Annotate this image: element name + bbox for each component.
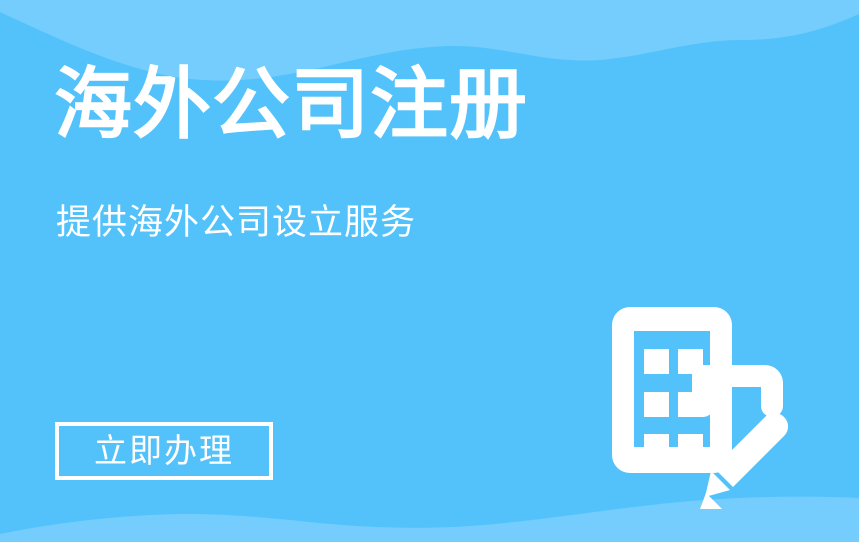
- building-window: [644, 434, 669, 459]
- building-annex-shape: [692, 365, 783, 417]
- building-edit-icon-glyph: [608, 303, 813, 518]
- building-window: [644, 349, 669, 374]
- page-subtitle: 提供海外公司设立服务: [56, 206, 416, 241]
- pencil-tip-fragment: [700, 493, 722, 509]
- building-edit-icon: [608, 303, 813, 518]
- building-window: [644, 392, 669, 417]
- apply-now-button[interactable]: 立即办理: [55, 422, 273, 480]
- banner-content: 海外公司注册 提供海外公司设立服务 立即办理: [54, 0, 614, 542]
- building-window: [678, 434, 703, 459]
- page-title: 海外公司注册: [54, 66, 528, 144]
- overseas-company-registration-banner: 海外公司注册 提供海外公司设立服务 立即办理: [0, 0, 859, 542]
